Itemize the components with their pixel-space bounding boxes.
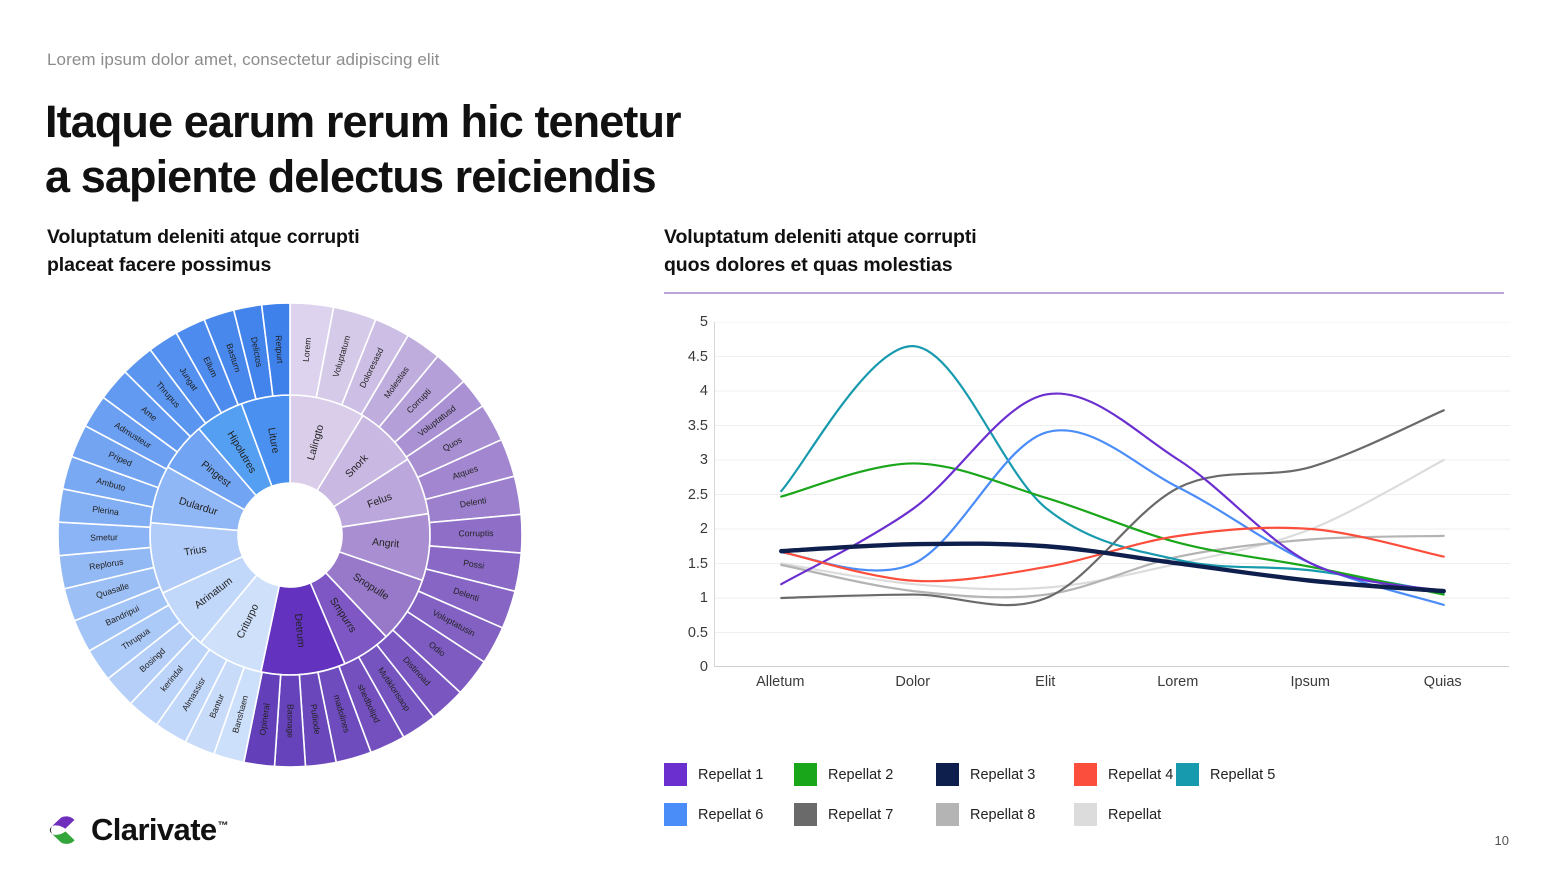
slide-root: Lorem ipsum dolor amet, consectetur adip…	[0, 0, 1557, 876]
page-number: 10	[1495, 833, 1509, 848]
sunburst-outer-segment-label: Basnage	[286, 704, 296, 738]
legend-swatch	[936, 803, 959, 826]
sunburst-svg: LalingtoSnorkFelusAngritSnopulleSmpurrsD…	[45, 295, 545, 775]
x-axis-tick-label: Dolor	[895, 674, 930, 690]
legend-swatch	[936, 763, 959, 786]
legend-label: Repellat 1	[698, 767, 763, 783]
left-panel-heading: Voluptatum deleniti atque corrupti place…	[47, 224, 360, 279]
legend-label: Repellat 8	[970, 807, 1035, 823]
right-panel-heading: Voluptatum deleniti atque corrupti quos …	[664, 224, 977, 279]
legend-item[interactable]: Repellat 2	[794, 763, 893, 786]
legend-swatch	[794, 803, 817, 826]
right-heading-line-1: Voluptatum deleniti atque corrupti	[664, 224, 977, 252]
x-axis: AlletumDolorElitLoremIpsumQuias	[714, 674, 1509, 704]
series-lines	[715, 322, 1510, 667]
legend-item[interactable]: Repellat 7	[794, 803, 893, 826]
legend-item[interactable]: Repellat 3	[936, 763, 1035, 786]
logo-tm: ™	[218, 820, 228, 832]
legend-item[interactable]: Repellat 5	[1176, 763, 1275, 786]
legend-label: Repellat 7	[828, 807, 893, 823]
sunburst-outer-segment-label: Retpurt	[273, 335, 285, 364]
legend-item[interactable]: Repellat 4	[1074, 763, 1173, 786]
legend-swatch	[1074, 803, 1097, 826]
y-axis-tick-label: 2.5	[668, 487, 708, 503]
legend-label: Repellat 3	[970, 767, 1035, 783]
legend-label: Repellat 4	[1108, 767, 1173, 783]
y-axis-tick-label: 4.5	[668, 349, 708, 365]
legend-swatch	[794, 763, 817, 786]
legend-swatch	[1176, 763, 1199, 786]
legend-label: Repellat 6	[698, 807, 763, 823]
y-axis-tick-label: 3	[668, 452, 708, 468]
title-line-2: a sapiente delectus reiciendis	[45, 150, 681, 205]
logo-wordmark: Clarivate™	[91, 812, 228, 848]
y-axis-tick-label: 5	[668, 314, 708, 330]
y-axis-tick-label: 0	[668, 659, 708, 675]
series-line[interactable]	[781, 394, 1444, 592]
line-chart: 00.511.522.533.544.55 AlletumDolorElitLo…	[664, 322, 1509, 722]
y-axis-tick-label: 1.5	[668, 556, 708, 572]
legend-swatch	[664, 763, 687, 786]
x-axis-tick-label: Alletum	[756, 674, 804, 690]
sunburst-outer-segment-label: Smetur	[90, 532, 118, 542]
left-heading-line-1: Voluptatum deleniti atque corrupti	[47, 224, 360, 252]
sunburst-outer-segment-label: Corruptis	[459, 528, 494, 538]
logo-name: Clarivate	[91, 812, 217, 847]
legend-label: Repellat 5	[1210, 767, 1275, 783]
x-axis-tick-label: Quias	[1424, 674, 1462, 690]
clarivate-logo: Clarivate™	[46, 812, 228, 848]
eyebrow-text: Lorem ipsum dolor amet, consectetur adip…	[47, 50, 440, 70]
legend-item[interactable]: Repellat 6	[664, 803, 763, 826]
plot-area	[714, 322, 1509, 667]
legend-swatch	[1074, 763, 1097, 786]
legend-item[interactable]: Repellat 1	[664, 763, 763, 786]
y-axis-tick-label: 4	[668, 383, 708, 399]
y-axis-tick-label: 1	[668, 590, 708, 606]
x-axis-tick-label: Elit	[1035, 674, 1055, 690]
x-axis-tick-label: Ipsum	[1291, 674, 1331, 690]
y-axis-tick-label: 0.5	[668, 625, 708, 641]
y-axis-tick-label: 2	[668, 521, 708, 537]
clarivate-mark-icon	[46, 812, 82, 848]
page-title: Itaque earum rerum hic tenetur a sapient…	[45, 95, 681, 205]
chart-legend: Repellat 1Repellat 2Repellat 3Repellat 4…	[664, 755, 1504, 845]
y-axis: 00.511.522.533.544.55	[664, 322, 708, 667]
legend-item[interactable]: Repellat 8	[936, 803, 1035, 826]
left-heading-line-2: placeat facere possimus	[47, 252, 360, 280]
legend-label: Repellat	[1108, 807, 1161, 823]
y-axis-tick-label: 3.5	[668, 418, 708, 434]
legend-item[interactable]: Repellat	[1074, 803, 1161, 826]
sunburst-center-hole	[238, 483, 342, 587]
right-heading-line-2: quos dolores et quas molestias	[664, 252, 977, 280]
right-panel-divider	[664, 292, 1504, 294]
legend-label: Repellat 2	[828, 767, 893, 783]
x-axis-tick-label: Lorem	[1157, 674, 1198, 690]
title-line-1: Itaque earum rerum hic tenetur	[45, 95, 681, 150]
sunburst-chart: LalingtoSnorkFelusAngritSnopulleSmpurrsD…	[45, 295, 545, 775]
legend-swatch	[664, 803, 687, 826]
